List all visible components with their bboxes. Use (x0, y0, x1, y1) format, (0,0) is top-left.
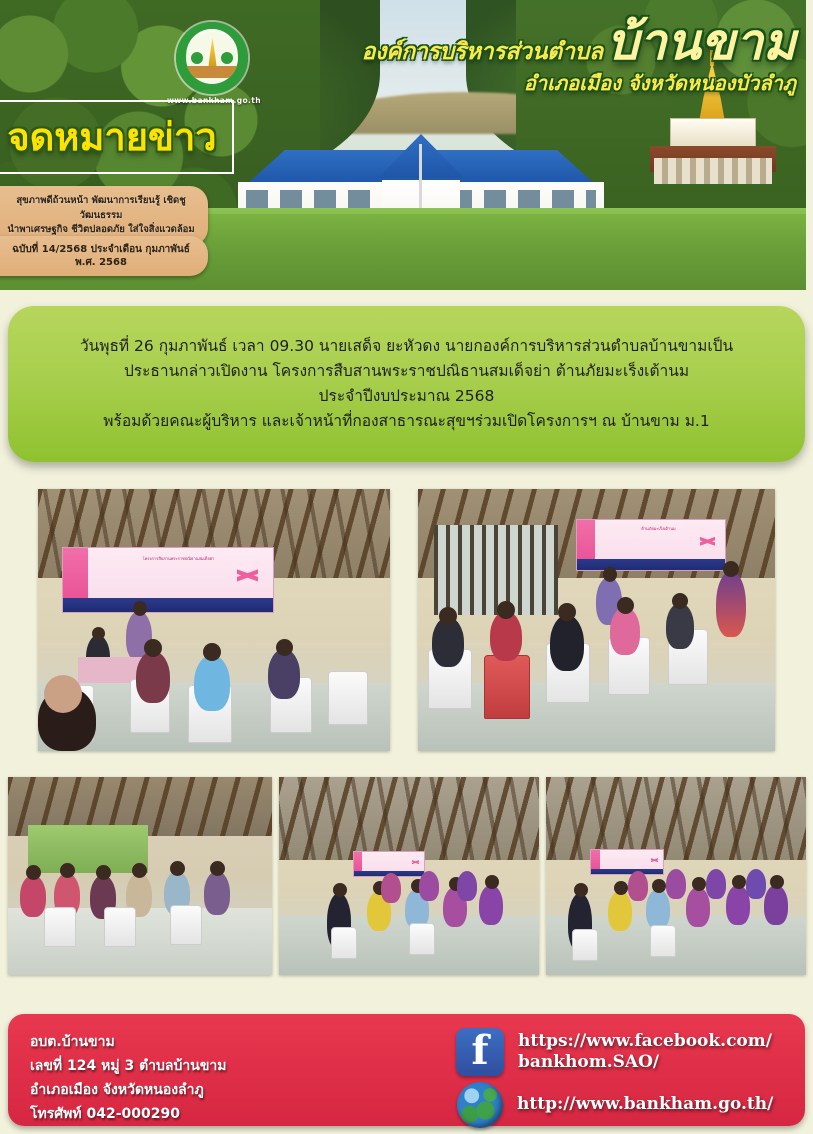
announcement-box: วันพุธที่ 26 กุมภาพันธ์ เวลา 09.30 นายเส… (8, 306, 805, 462)
attendee (419, 871, 439, 901)
issue-text: ฉบับที่ 14/2568 ประจำเดือน กุมภาพันธ์ พ.… (4, 243, 198, 269)
header-title-group: องค์การบริหารส่วนตำบลบ้านขาม อำเภอเมือง … (296, 20, 796, 99)
photo-audience-hall-center (279, 777, 539, 975)
attendee (479, 885, 503, 925)
facebook-link-row[interactable]: https://www.facebook.com/ bankhom.SAO/ (456, 1028, 773, 1076)
staff-head (723, 561, 739, 577)
attendee-head (617, 597, 634, 614)
attendee (666, 869, 686, 899)
slogan-line-1: สุขภาพดีถ้วนหน้า พัฒนาการเรียนรู้ เชิดชู… (4, 194, 198, 223)
chair (650, 925, 676, 957)
foreground-head (44, 675, 82, 713)
issue-pill: ฉบับที่ 14/2568 ประจำเดือน กุมภาพันธ์ พ.… (0, 236, 208, 276)
pink-ribbon-icon (651, 854, 658, 866)
org-name-text: บ้านขาม (607, 20, 796, 65)
attendee (381, 873, 401, 903)
pink-ribbon-icon (237, 558, 258, 591)
newsletter-title: จดหมายข่าว (7, 118, 216, 156)
attendee (628, 871, 648, 901)
facebook-url[interactable]: https://www.facebook.com/ bankhom.SAO/ (518, 1031, 772, 1074)
website-url[interactable]: http://www.bankham.go.th/ (517, 1094, 773, 1115)
attendee-head (497, 601, 515, 619)
footer-contact-bar: อบต.บ้านขาม เลขที่ 124 หมู่ 3 ตำบลบ้านขา… (8, 1014, 805, 1126)
globe-icon[interactable] (457, 1082, 503, 1128)
announcement-line: ประธานกล่าวเปิดงาน โครงการสืบสานพระราชปณ… (124, 359, 689, 384)
footer-phone: โทรศัพท์ 042-000290 (30, 1102, 226, 1126)
footer-address-block: อบต.บ้านขาม เลขที่ 124 หมู่ 3 ตำบลบ้านขา… (30, 1030, 226, 1126)
attendee-head (203, 643, 221, 661)
emblem-inner (186, 32, 238, 84)
announcement-line: วันพุธที่ 26 กุมภาพันธ์ เวลา 09.30 นายเส… (80, 334, 733, 359)
attendee-head (770, 875, 784, 889)
attendee-head (558, 603, 576, 621)
attendee (20, 875, 46, 917)
attendee-head (276, 639, 293, 656)
announcement-line: ประจำปีงบประมาณ 2568 (319, 384, 495, 409)
speaker-head (133, 601, 147, 616)
announcement-line: พร้อมด้วยคณะผู้บริหาร และเจ้าหน้าที่กองส… (103, 409, 709, 434)
chair (104, 907, 136, 947)
attendee (136, 651, 170, 703)
footer-org-name: อบต.บ้านขาม (30, 1030, 226, 1054)
facebook-url-line-1: https://www.facebook.com/ (518, 1031, 772, 1052)
chair (484, 655, 530, 719)
attendee-head (732, 875, 746, 889)
chair (331, 927, 357, 959)
photo-audience-outdoor (8, 777, 272, 975)
chair (170, 905, 202, 945)
attendee (706, 869, 726, 899)
org-location-text: อำเภอเมือง จังหวัดหนองบัวลำภู (296, 67, 796, 99)
bankham-emblem-logo (176, 22, 248, 94)
footer-street: เลขที่ 124 หมู่ 3 ตำบลบ้านขาม (30, 1054, 226, 1078)
footer-district: อำเภอเมือง จังหวัดหนองลำภู (30, 1078, 226, 1102)
attendee-head (692, 877, 706, 891)
attendee-head (170, 861, 185, 876)
attendee (746, 869, 766, 899)
newsletter-title-frame: จดหมายข่าว (0, 100, 234, 174)
website-link-row[interactable]: http://www.bankham.go.th/ (456, 1082, 773, 1128)
emblem-tree-left-icon (191, 52, 203, 64)
attendee (194, 655, 230, 711)
pink-ribbon-icon (700, 528, 715, 554)
org-prefix-text: องค์การบริหารส่วนตำบล (362, 41, 603, 64)
attendee-head (672, 593, 688, 609)
footer-links-block: https://www.facebook.com/ bankhom.SAO/ h… (456, 1028, 773, 1134)
attendee (457, 871, 477, 901)
attendee (204, 871, 230, 915)
banner-text: โครงการสืบสานพระราชปณิธานสมเด็จย่า (97, 556, 261, 563)
photo-meeting-side-view: ต้านภัยมะเร็งเต้านม (418, 489, 775, 751)
attendee-head (132, 863, 147, 878)
photo-audience-hall-wide (546, 777, 806, 975)
attendee (610, 607, 640, 655)
official-head (92, 627, 105, 640)
pagoda-colonnade (654, 158, 772, 184)
project-banner: ต้านภัยมะเร็งเต้านม (576, 519, 726, 571)
photo-meeting-banner-front: โครงการสืบสานพระราชปณิธานสมเด็จย่า (38, 489, 390, 751)
hall-beams-cross (279, 777, 539, 860)
attendee-head (60, 863, 75, 878)
outdoor-greenery (28, 825, 148, 873)
chair (409, 923, 435, 955)
attendee (646, 889, 670, 929)
attendee-head (96, 865, 111, 880)
attendee-head (485, 875, 499, 889)
chair (328, 671, 368, 725)
newsletter-page: www.bankham.go.th องค์การบริหารส่วนตำบลบ… (0, 0, 813, 1134)
facebook-icon[interactable] (456, 1028, 504, 1076)
attendee-head (614, 881, 628, 895)
attendee (764, 885, 788, 925)
window-grille (434, 525, 558, 615)
project-banner: โครงการสืบสานพระราชปณิธานสมเด็จย่า (62, 547, 274, 613)
speaker-head (603, 567, 617, 582)
header-banner: www.bankham.go.th องค์การบริหารส่วนตำบลบ… (0, 0, 806, 290)
hall-beams-cross (546, 777, 806, 860)
staff-member (716, 571, 746, 637)
attendee-head (574, 883, 588, 897)
attendee-head (439, 607, 457, 625)
attendee (268, 649, 300, 699)
chair (44, 907, 76, 947)
pagoda-base (670, 118, 756, 148)
attendee-head (210, 861, 225, 876)
pink-ribbon-icon (412, 856, 419, 868)
emblem-tree-right-icon (221, 52, 233, 64)
attendee-head (652, 879, 666, 893)
project-banner (590, 849, 664, 875)
attendee-head (26, 865, 41, 880)
attendee-head (144, 639, 162, 657)
attendee-head (333, 883, 347, 897)
attendee (666, 603, 694, 649)
attendee (550, 615, 584, 671)
banner-text: ต้านภัยมะเร็งเต้านม (601, 526, 716, 533)
attendee (608, 891, 632, 931)
chair (572, 929, 598, 961)
facebook-url-line-2: bankhom.SAO/ (518, 1052, 772, 1073)
emblem-ground (186, 66, 238, 78)
